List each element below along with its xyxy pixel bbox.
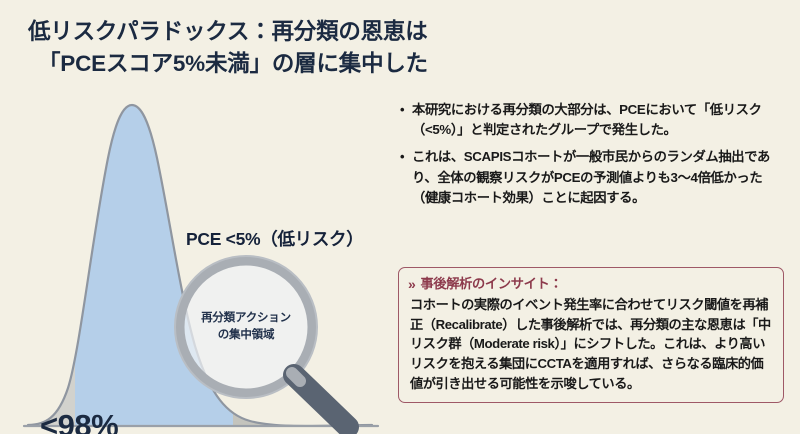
slide-root: 低リスクパラドックス：再分類の恩恵は 「PCEスコア5%未満」の層に集中した — [0, 0, 800, 434]
double-chevron-icon: » — [408, 275, 416, 294]
insight-body-text: コホートの実際のイベント発生率に合わせてリスク閾値を再補正（Recalibrat… — [408, 295, 774, 394]
list-item: • 本研究における再分類の大部分は、PCEにおいて「低リスク（<5%）」と判定さ… — [398, 100, 786, 140]
title-line-2: 「PCEスコア5%未満」の層に集中した — [28, 48, 588, 80]
curve-highlight-band — [28, 105, 372, 426]
insight-heading-row: » 事後解析のインサイト： — [408, 275, 774, 294]
list-item: • これは、SCAPISコホートが一般市民からのランダム抽出であり、全体の観察リ… — [398, 147, 786, 208]
bullet-text: これは、SCAPISコホートが一般市民からのランダム抽出であり、全体の観察リスク… — [412, 149, 770, 204]
title-line-1: 低リスクパラドックス：再分類の恩恵は — [28, 16, 588, 48]
magnifier-label-line-2: の集中領域 — [181, 327, 311, 344]
page-title: 低リスクパラドックス：再分類の恩恵は 「PCEスコア5%未満」の層に集中した — [28, 16, 588, 80]
bullet-list: • 本研究における再分類の大部分は、PCEにおいて「低リスク（<5%）」と判定さ… — [398, 100, 786, 208]
insight-callout-box: » 事後解析のインサイト： コホートの実際のイベント発生率に合わせてリスク閾値を… — [398, 267, 784, 403]
distribution-chart: PCE <5%（低リスク） <98% 再分類アクション の集中領域 — [0, 88, 400, 434]
bullet-marker: • — [400, 147, 404, 167]
share-label: <98% — [40, 408, 118, 434]
magnifier-label-line-1: 再分類アクション — [181, 310, 311, 327]
bullet-text: 本研究における再分類の大部分は、PCEにおいて「低リスク（<5%）」と判定された… — [412, 102, 762, 137]
bullet-list-container: • 本研究における再分類の大部分は、PCEにおいて「低リスク（<5%）」と判定さ… — [398, 100, 786, 215]
distribution-curve-svg — [0, 88, 400, 434]
low-risk-label: PCE <5%（低リスク） — [186, 226, 363, 251]
magnifier-label: 再分類アクション の集中領域 — [181, 310, 311, 345]
bullet-marker: • — [400, 100, 404, 120]
insight-heading: 事後解析のインサイト： — [421, 275, 563, 293]
